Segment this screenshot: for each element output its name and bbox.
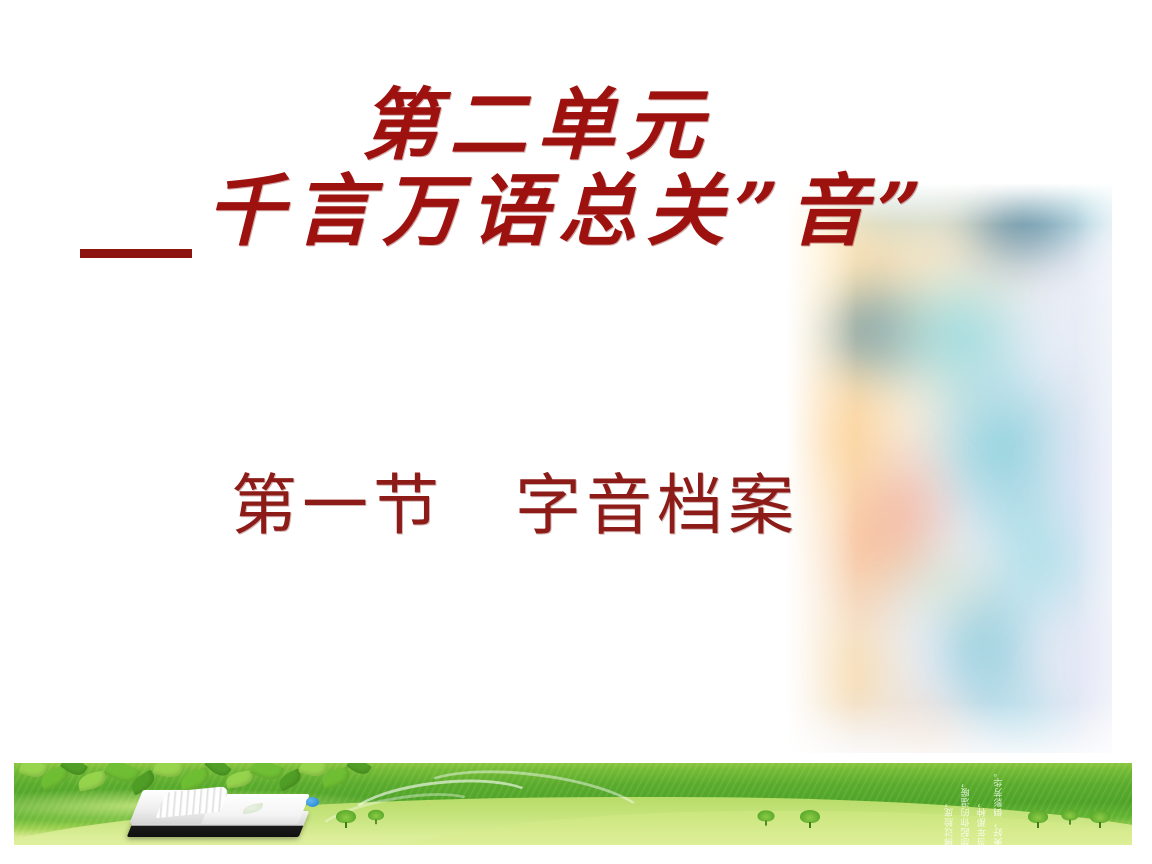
tree-icon <box>368 810 384 824</box>
title-block: 第二单元 千言万语总关”音” <box>0 86 1040 258</box>
title-line-2: 千言万语总关”音” <box>0 172 1040 258</box>
banner-vertical-text-line: 微风拂过脸庞， <box>945 767 954 845</box>
banner-vertical-text-line: 追忆当年那种， <box>978 767 987 845</box>
title-line-2-text: 千言万语总关”音” <box>206 166 932 257</box>
book-bookmark-dot <box>306 797 319 807</box>
subtitle-text: 第一节 字音档案 <box>0 452 1030 548</box>
banner-vertical-text-line: 让我想起你的温暖， <box>962 767 971 845</box>
slide-canvas: 第二单元 千言万语总关”音” 第一节 字音档案 <box>0 0 1152 864</box>
tree-icon <box>1090 810 1110 828</box>
open-book-illustration <box>126 779 308 837</box>
tree-icon <box>1028 810 1048 828</box>
banner-vertical-text-line: 种的美好，倒影芳华。 <box>995 767 1004 845</box>
tree-icon <box>758 810 775 825</box>
tree-icon <box>336 810 356 828</box>
tree-icon <box>800 810 820 828</box>
tree-icon <box>1062 809 1079 824</box>
banner-vertical-text-group: 微风拂过脸庞， 让我想起你的温暖， 追忆当年那种， 种的美好，倒影芳华。 <box>945 767 1004 845</box>
bottom-green-banner: 微风拂过脸庞， 让我想起你的温暖， 追忆当年那种， 种的美好，倒影芳华。 <box>14 763 1132 845</box>
title-line-1: 第二单元 <box>34 86 1040 166</box>
title-dash-icon <box>80 249 192 258</box>
